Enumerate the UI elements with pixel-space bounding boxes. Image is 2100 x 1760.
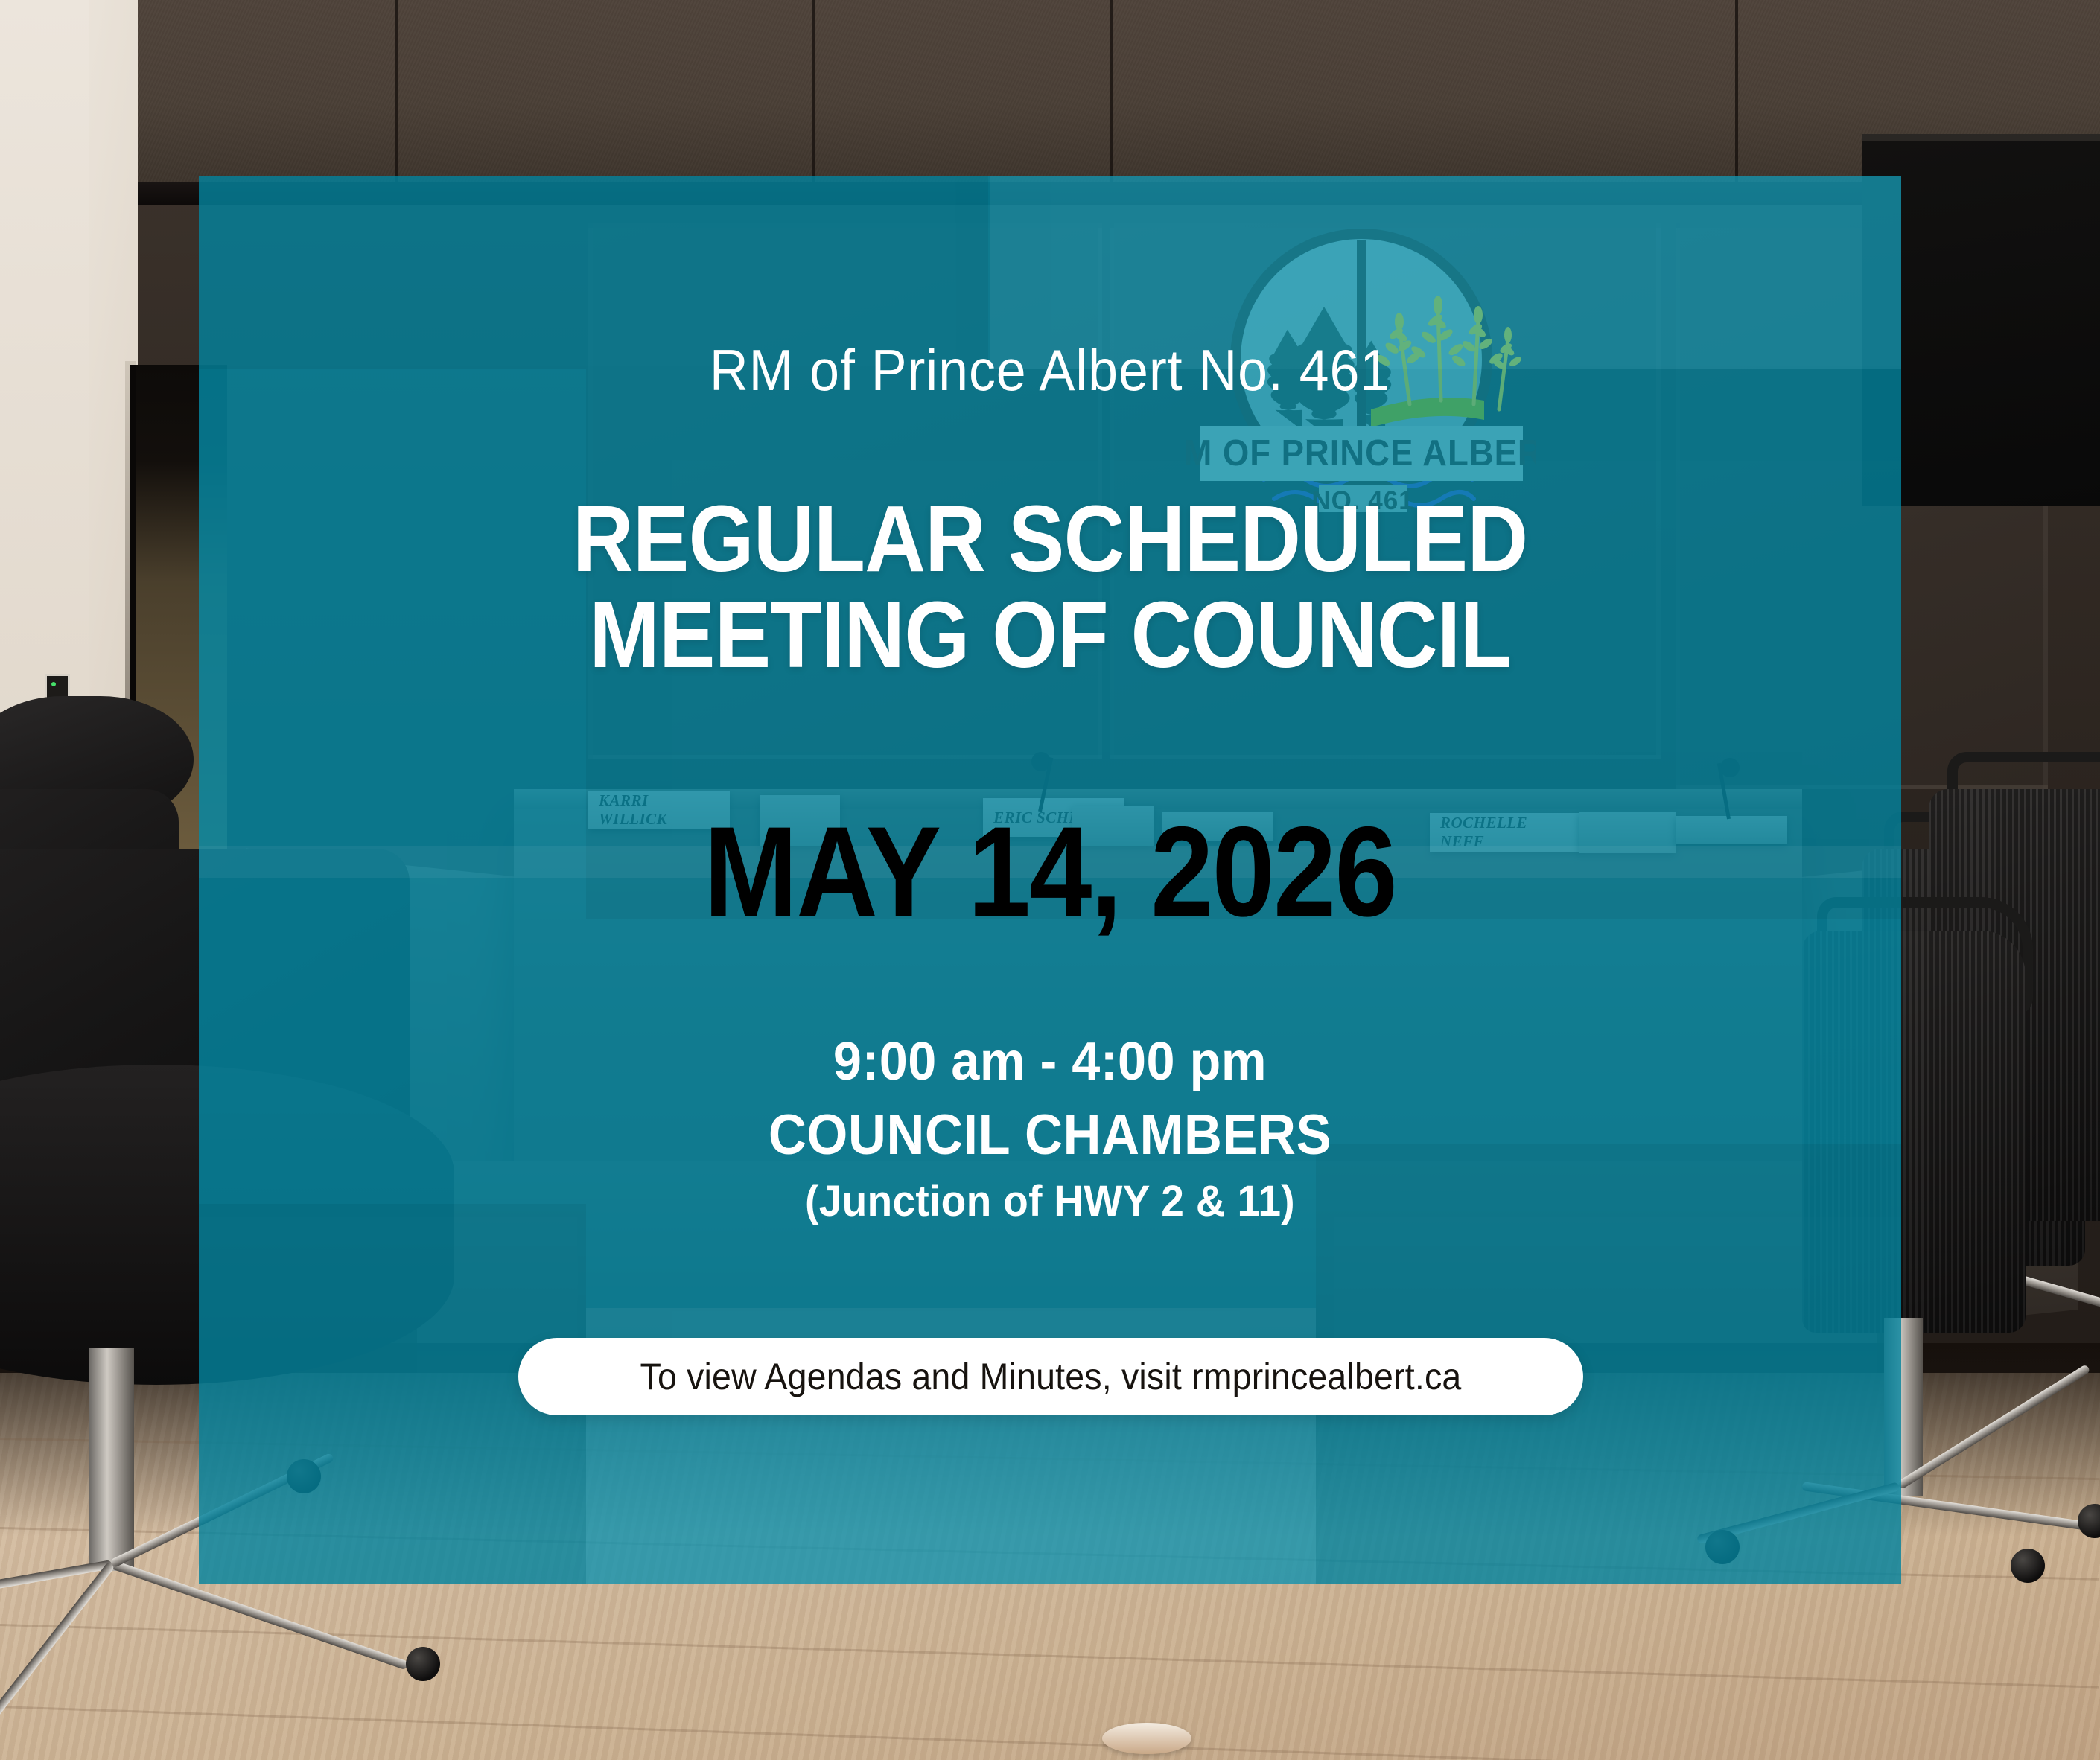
headline-line-2: MEETING OF COUNCIL [105, 587, 1995, 683]
meeting-address: (Junction of HWY 2 & 11) [53, 1176, 2048, 1226]
chair-caster [406, 1647, 440, 1681]
logo-banner-text: RM OF PRINCE ALBERT [1186, 433, 1536, 474]
meeting-location: COUNCIL CHAMBERS [74, 1103, 2027, 1167]
chair-caster [2011, 1549, 2045, 1583]
panel-seam [395, 0, 398, 186]
page-title: REGULAR SCHEDULED MEETING OF COUNCIL [105, 491, 1995, 683]
agendas-minutes-cta-label: To view Agendas and Minutes, visit rmpri… [640, 1355, 1462, 1398]
panel-seam [812, 0, 815, 186]
floor-cap-cover [1102, 1723, 1191, 1754]
meeting-date: MAY 14, 2026 [126, 808, 1974, 936]
meeting-time: 9:00 am - 4:00 pm [53, 1031, 2048, 1092]
panel-seam [1735, 0, 1738, 186]
organization-name: RM of Prince Albert No. 461 [84, 337, 2016, 404]
chair-gas-cylinder [89, 1348, 134, 1571]
meeting-details: 9:00 am - 4:00 pm COUNCIL CHAMBERS (Junc… [0, 1031, 2100, 1226]
council-meeting-poster: KARRI WILLICK ERIC SCHMALZ ROCHELLE NEFF [0, 0, 2100, 1760]
headline-line-1: REGULAR SCHEDULED [573, 486, 1528, 591]
acoustic-panel-band [127, 0, 2100, 186]
panel-seam [1110, 0, 1113, 186]
agendas-minutes-cta[interactable]: To view Agendas and Minutes, visit rmpri… [518, 1338, 1583, 1415]
